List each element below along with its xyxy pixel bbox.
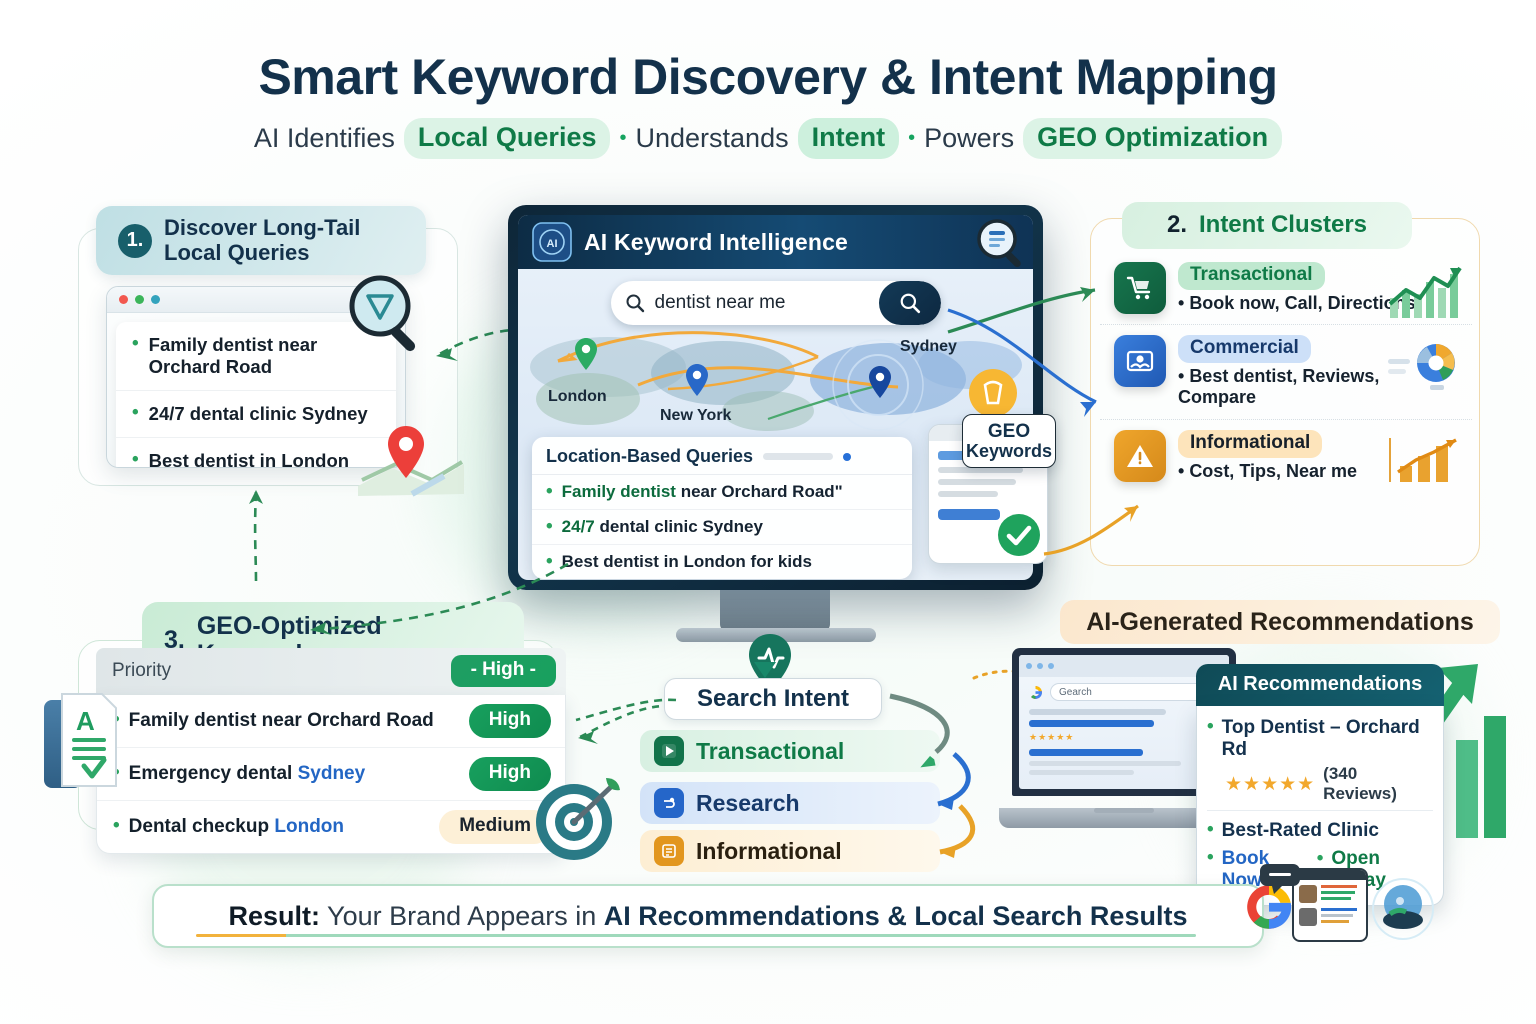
search-intent-title: Search Intent xyxy=(664,678,882,720)
review-count: (340 Reviews) xyxy=(1323,764,1433,804)
table-col-priority-header: Priority xyxy=(112,660,171,682)
bullet-dot-icon: • xyxy=(546,517,553,537)
location-panel-title: Location-Based Queries xyxy=(546,446,753,467)
layers-icon xyxy=(654,788,684,818)
result-text: Result: Your Brand Appears in AI Recomme… xyxy=(229,901,1188,932)
donut-chart-icon xyxy=(1386,337,1464,397)
arrow-dashed-left-in xyxy=(566,690,686,740)
progress-bar xyxy=(763,453,833,460)
table-row[interactable]: • Emergency dental Sydney High xyxy=(97,748,565,801)
rating-stars: ★★★★★ xyxy=(1225,773,1315,796)
arrow-to-informational xyxy=(1040,470,1150,560)
chevron-down-icon xyxy=(752,660,778,682)
list-item[interactable]: • 24/7 dental clinic Sydney xyxy=(532,510,912,545)
map-pin-icon xyxy=(386,424,426,480)
search-intent-label-informational: Informational xyxy=(696,838,842,865)
list-square-icon xyxy=(654,836,684,866)
target-dartboard-icon xyxy=(528,772,620,864)
browser-dot-icon xyxy=(1026,663,1032,669)
bullet-dot-icon: • xyxy=(132,403,139,423)
bullet-dot-icon: • xyxy=(546,482,553,502)
image-card-icon xyxy=(1114,335,1166,387)
intent-desc-informational: • Cost, Tips, Near me xyxy=(1178,461,1357,482)
map-label-london: London xyxy=(548,388,607,406)
step2-header-chip: 2. Intent Clusters xyxy=(1122,202,1412,249)
result-strong-local: Local Search Results xyxy=(914,901,1187,931)
map-label-newyork: New York xyxy=(660,407,731,425)
map-pin-london-icon xyxy=(574,337,598,371)
subtitle-mid: Understands xyxy=(636,123,789,154)
bullet-dot-icon: • xyxy=(132,334,139,354)
svg-text:A: A xyxy=(76,706,95,736)
table-body: • Family dentist near Orchard Road High … xyxy=(96,695,566,854)
table-row[interactable]: • Family dentist near Orchard Road High xyxy=(97,695,565,748)
result-stars: ★★★★★ xyxy=(1029,732,1219,743)
geo-badge-line1: GEO xyxy=(988,422,1030,442)
geo-kw-1-plain: Emergency dental xyxy=(129,763,298,784)
location-query-0-rest: near Orchard Road" xyxy=(676,482,843,501)
list-item[interactable]: • Best dentist in London for kids xyxy=(532,545,912,579)
search-input[interactable]: dentist near me xyxy=(611,281,941,325)
bullet-dot-icon: • xyxy=(1207,820,1214,842)
recommendations-section-title: AI-Generated Recommendations xyxy=(1086,608,1474,637)
intent-cluster-commercial[interactable]: Commercial • Best dentist, Reviews, Comp… xyxy=(1100,325,1472,419)
result-underline xyxy=(196,934,1196,937)
monitor-magnifier-icon[interactable] xyxy=(973,217,1027,269)
step1-title-line1: Discover Long-Tail xyxy=(164,216,360,241)
subtitle-post: Powers xyxy=(924,123,1014,154)
search-intent-label-research: Research xyxy=(696,790,800,817)
ai-recommendations-card-title: AI Recommendations xyxy=(1196,664,1444,706)
infographic-canvas: Smart Keyword Discovery & Intent Mapping… xyxy=(0,0,1536,1024)
search-intent-arrows xyxy=(876,690,986,870)
search-icon xyxy=(625,293,645,313)
result-strong-ai: AI Recommendations xyxy=(604,901,880,931)
location-query-1-accent: 24/7 xyxy=(562,517,595,536)
geo-keywords-badge: GEO Keywords xyxy=(962,414,1056,468)
ai-brain-icon: AI xyxy=(532,222,572,262)
subtitle-highlight-geo: GEO Optimization xyxy=(1023,118,1282,159)
intent-cluster-informational[interactable]: Informational • Cost, Tips, Near me xyxy=(1100,420,1472,492)
browser-dot-icon xyxy=(1048,663,1054,669)
result-mid: Your Brand Appears in xyxy=(320,901,604,931)
check-circle-icon xyxy=(996,512,1042,558)
step1-query-1: 24/7 dental clinic Sydney xyxy=(149,403,368,425)
result-bar: Result: Your Brand Appears in AI Recomme… xyxy=(152,884,1264,948)
line-up-chart-icon xyxy=(1386,264,1464,320)
monitor-header-bar: AI AI Keyword Intelligence xyxy=(518,215,1033,269)
arrow-dashed-step1-up xyxy=(236,466,276,586)
intent-cluster-transactional[interactable]: Transactional • Book now, Call, Directio… xyxy=(1100,252,1472,325)
subtitle-highlight-intent: Intent xyxy=(798,118,900,159)
shopping-cart-icon xyxy=(1114,262,1166,314)
recommendations-header-chip: AI-Generated Recommendations xyxy=(1060,600,1500,644)
arrow-dashed-monitor-to-step3 xyxy=(296,556,576,656)
step2-number: 2. xyxy=(1167,212,1187,239)
location-based-queries-panel: Location-Based Queries • Family dentist … xyxy=(532,437,912,579)
step1-number-badge: 1. xyxy=(118,224,152,258)
intent-cluster-list: Transactional • Book now, Call, Directio… xyxy=(1100,252,1472,492)
table-row[interactable]: • Dental checkup London Medium xyxy=(97,801,565,853)
arrow-to-commercial xyxy=(940,300,1110,420)
step2-title: Intent Clusters xyxy=(1199,212,1367,239)
ai-brain-sphere-icon xyxy=(1370,876,1436,942)
subtitle-pre: AI Identifies xyxy=(254,123,395,154)
intent-tag-transactional: Transactional xyxy=(1178,262,1325,290)
step1-header-chip: 1. Discover Long-Tail Local Queries xyxy=(96,206,426,275)
svg-text:AI: AI xyxy=(547,238,558,250)
intent-desc-transactional: • Book now, Call, Directions xyxy=(1178,293,1416,314)
result-amp: & xyxy=(880,901,915,931)
geo-kw-2-plain: Dental checkup xyxy=(129,816,275,837)
geo-kw-1-accent: Sydney xyxy=(298,763,366,784)
location-query-2-rest: Best dentist in London for kids xyxy=(562,552,812,571)
bullet-dot-icon: • xyxy=(1207,717,1214,761)
monitor-title: AI Keyword Intelligence xyxy=(584,229,848,256)
window-minimize-dot-icon[interactable] xyxy=(135,295,144,304)
search-icon xyxy=(899,292,921,314)
geo-kw-2-accent: London xyxy=(274,816,344,837)
browser-dot-icon xyxy=(1037,663,1043,669)
recommendation-item-top-dentist[interactable]: • Top Dentist – Orchard Rd xyxy=(1207,714,1433,764)
intent-tag-informational: Informational xyxy=(1178,430,1322,458)
geo-keywords-table: Priority - High - • Family dentist near … xyxy=(96,648,566,854)
search-intent-label-transactional: Transactional xyxy=(696,738,844,765)
recommendation-item-best-rated[interactable]: • Best-Rated Clinic xyxy=(1207,817,1433,845)
map-pin-newyork-icon xyxy=(685,363,709,397)
status-dot-icon xyxy=(843,453,851,461)
geo-badge-line2: Keywords xyxy=(966,442,1052,461)
location-query-1-rest: dental clinic Sydney xyxy=(595,517,763,536)
geo-kw-0-plain: Family dentist near Orchard Road xyxy=(129,710,434,731)
bullet-dot-icon: • xyxy=(132,450,139,468)
chat-bubble-icon xyxy=(1258,862,1314,898)
page-title: Smart Keyword Discovery & Intent Mapping xyxy=(0,48,1536,106)
recommendation-1-text: Best-Rated Clinic xyxy=(1222,820,1379,842)
intent-tag-commercial: Commercial xyxy=(1178,335,1311,363)
location-panel-header: Location-Based Queries xyxy=(532,437,912,475)
google-logo-icon xyxy=(1027,684,1044,701)
play-square-icon xyxy=(654,736,684,766)
window-maximize-dot-icon[interactable] xyxy=(151,295,160,304)
status-badge: High xyxy=(469,704,551,738)
table-priority-filter[interactable]: - High - xyxy=(451,655,556,687)
monitor-stand xyxy=(720,588,830,632)
search-submit-button[interactable] xyxy=(879,281,941,325)
search-input-value: dentist near me xyxy=(655,292,786,314)
window-close-dot-icon[interactable] xyxy=(119,295,128,304)
page-subtitle: AI Identifies Local Queries • Understand… xyxy=(0,118,1536,159)
result-label: Result: xyxy=(229,901,321,931)
subtitle-highlight-local-queries: Local Queries xyxy=(404,118,611,159)
document-check-icon: A xyxy=(58,690,120,790)
recommendation-0-text: Top Dentist – Orchard Rd xyxy=(1222,717,1433,761)
bar-up-chart-icon xyxy=(1386,436,1464,484)
browser-search-value: Gearch xyxy=(1059,687,1092,698)
bullet-dot-icon: • xyxy=(113,816,120,838)
subtitle-separator-2: • xyxy=(908,127,915,150)
location-query-0-accent: Family dentist xyxy=(562,482,676,501)
subtitle-separator-1: • xyxy=(619,127,626,150)
list-item[interactable]: • Family dentist near Orchard Road" xyxy=(532,475,912,510)
step1-title-line2: Local Queries xyxy=(164,241,360,266)
map-pin-sydney-icon xyxy=(868,365,892,399)
